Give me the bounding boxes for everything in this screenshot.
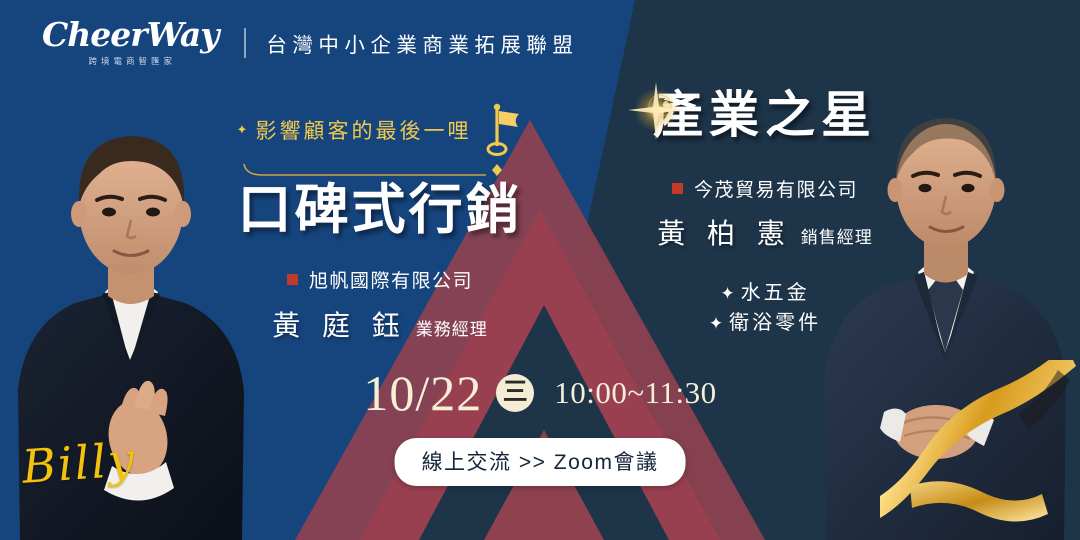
logo-wordmark: CheerWay: [42, 18, 218, 51]
diamond-bullet-icon: ✦: [709, 314, 726, 333]
weekday-badge: 三: [496, 374, 534, 412]
sparkle-icon: ✦: [237, 122, 248, 138]
right-company-row: 今茂貿易有限公司: [620, 175, 910, 202]
brand-logo[interactable]: CheerWay 跨境電商智匯家: [42, 18, 218, 67]
right-speaker-name: 黃 柏 憲: [657, 212, 792, 252]
left-eyebrow-text: 影響顧客的最後一哩: [255, 115, 471, 145]
event-datetime: 10/22 三 10:00~11:30: [0, 368, 1080, 418]
square-bullet-icon: [287, 274, 298, 285]
flag-icon: [483, 100, 523, 160]
diamond-bullet-icon: ✦: [720, 284, 737, 303]
product-list: ✦水五金 ✦衛浴零件: [620, 278, 910, 338]
promo-banner: CheerWay 跨境電商智匯家 台灣中小企業商業拓展聯盟 ✦ 影響顧客的最後一…: [0, 0, 1080, 540]
right-speaker-title: 銷售經理: [801, 223, 873, 248]
left-speaker-name: 黃 庭 鈺: [272, 304, 407, 344]
session-left: ✦ 影響顧客的最後一哩 口碑式行銷 旭帆國際有限公司 黃 庭 鈺 業務經理: [205, 100, 555, 344]
left-company-name: 旭帆國際有限公司: [309, 266, 473, 293]
product-item: ✦水五金: [620, 278, 910, 308]
left-speaker-row: 黃 庭 鈺 業務經理: [205, 304, 555, 344]
star-burst-icon: [626, 80, 690, 144]
session-right: 產業之星 今茂貿易有限公司 黃 柏 憲 銷售經理 ✦水五金 ✦衛浴零件: [620, 88, 910, 338]
alliance-title: 台灣中小企業商業拓展聯盟: [266, 28, 578, 58]
product-label: 水五金: [741, 282, 810, 304]
zoom-meeting-button[interactable]: 線上交流 >> Zoom會議: [395, 438, 686, 486]
square-bullet-icon: [672, 183, 683, 194]
eyebrow-underline: [240, 162, 520, 178]
product-item: ✦衛浴零件: [620, 308, 910, 338]
product-label: 衛浴零件: [729, 312, 821, 334]
left-speaker-title: 業務經理: [416, 315, 488, 340]
logo-subtitle: 跨境電商智匯家: [88, 55, 176, 67]
left-headline: 口碑式行銷: [205, 180, 555, 240]
event-date: 10/22: [363, 368, 482, 418]
header-divider: [244, 28, 246, 58]
right-company-name: 今茂貿易有限公司: [694, 175, 858, 202]
right-speaker-row: 黃 柏 憲 銷售經理: [620, 212, 910, 252]
signature-billy: Billy: [21, 436, 138, 490]
left-company-row: 旭帆國際有限公司: [205, 266, 555, 293]
left-eyebrow-row: ✦ 影響顧客的最後一哩: [205, 100, 555, 160]
event-time: 10:00~11:30: [554, 375, 716, 411]
brand-header: CheerWay 跨境電商智匯家 台灣中小企業商業拓展聯盟: [42, 18, 578, 67]
